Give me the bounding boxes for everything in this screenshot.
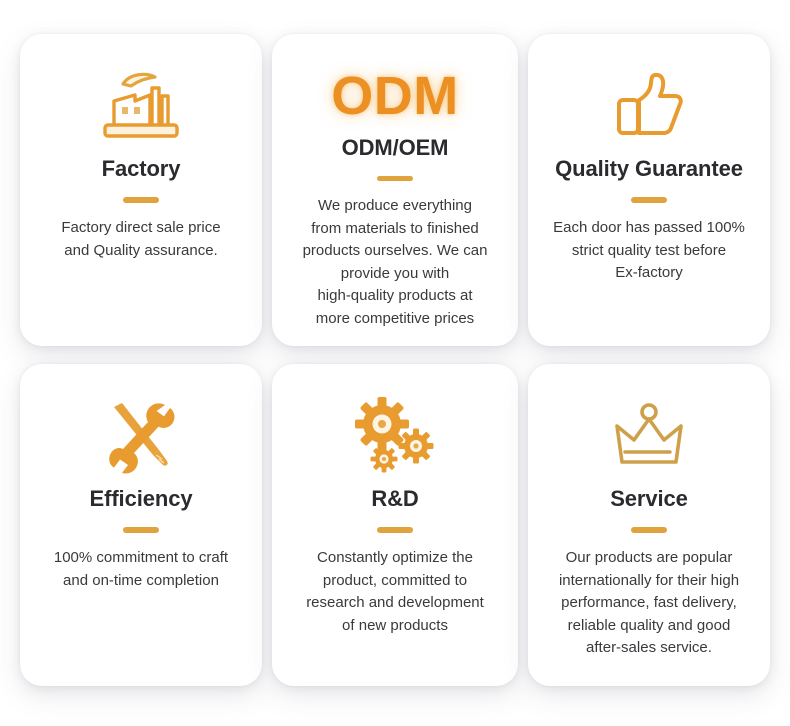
card-description: Each door has passed 100% strict quality… <box>553 217 745 285</box>
factory-icon <box>34 60 248 152</box>
crown-icon <box>542 390 756 482</box>
card-title: Quality Guarantee <box>555 156 743 181</box>
card-title: ODM/OEM <box>342 135 449 160</box>
card-description: 100% commitment to craft and on-time com… <box>54 547 228 592</box>
card-title: Efficiency <box>90 486 193 511</box>
card-title: Service <box>610 486 688 511</box>
card-description: Our products are popular internationally… <box>559 547 739 660</box>
card-title: R&D <box>371 486 418 511</box>
title-divider <box>123 197 159 203</box>
title-divider <box>631 527 667 533</box>
wrench-screwdriver-icon <box>34 390 248 482</box>
feature-card-odm-oem[interactable]: ODM ODM/OEM We produce everything from m… <box>272 34 518 346</box>
title-divider <box>123 527 159 533</box>
title-divider <box>631 197 667 203</box>
odm-wordmark-text: ODM <box>331 69 458 123</box>
card-description: We produce everything from materials to … <box>303 195 488 330</box>
card-description: Constantly optimize the product, committ… <box>306 547 484 637</box>
card-description: Factory direct sale price and Quality as… <box>61 217 220 262</box>
feature-card-research-development[interactable]: R&D Constantly optimize the product, com… <box>272 364 518 686</box>
title-divider <box>377 176 413 181</box>
feature-card-service[interactable]: Service Our products are popular interna… <box>528 364 770 686</box>
title-divider <box>377 527 413 533</box>
gears-icon <box>286 390 504 482</box>
feature-card-quality-guarantee[interactable]: Quality Guarantee Each door has passed 1… <box>528 34 770 346</box>
feature-card-efficiency[interactable]: Efficiency 100% commitment to craft and … <box>20 364 262 686</box>
card-title: Factory <box>102 156 181 181</box>
feature-card-factory[interactable]: Factory Factory direct sale price and Qu… <box>20 34 262 346</box>
features-section: Factory Factory direct sale price and Qu… <box>0 0 790 726</box>
odm-wordmark-logo: ODM <box>286 60 504 131</box>
thumbs-up-icon <box>542 60 756 152</box>
feature-card-grid: Factory Factory direct sale price and Qu… <box>20 20 770 700</box>
